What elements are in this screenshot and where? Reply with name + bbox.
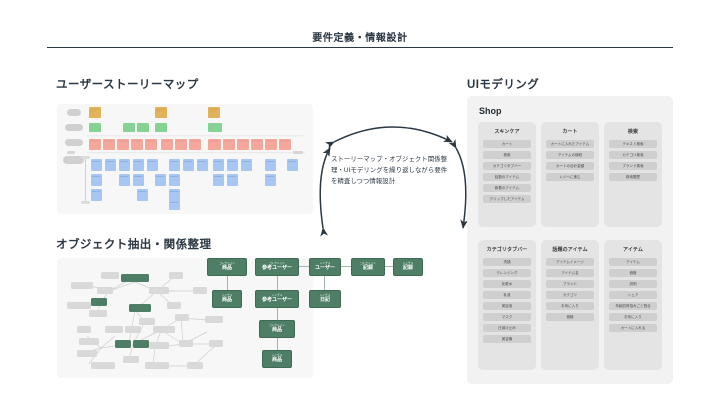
object-card-kind: コレクション (269, 263, 285, 266)
ui-card-item[interactable]: カテゴリタブバー (483, 162, 531, 170)
ui-modeling-panel[interactable]: Shop スキンケア カート 検索 カテゴリタブバー 話題のアイテム 新着のアイ… (467, 96, 673, 384)
object-card-kind: コレクション (219, 263, 235, 266)
ui-card-item[interactable]: ブランド検索 (609, 162, 657, 170)
object-card-name: 記録 (363, 266, 373, 271)
ui-card-item[interactable]: 洗顔 (483, 258, 531, 266)
object-card-name: 商品 (222, 298, 232, 303)
ui-card-search[interactable]: 検索 テキスト検索 カテゴリ検索 ブランド検索 検索履歴 (604, 122, 662, 227)
ui-card-item[interactable]: クリップしたアイテム (483, 195, 531, 203)
object-card-kind: シングル (403, 263, 414, 266)
ui-card-item[interactable]: シェア (609, 291, 657, 299)
ui-card-item[interactable]: 乳液 (483, 291, 531, 299)
story-map-canvas (57, 104, 313, 214)
ui-card-item[interactable]: 価格 (546, 313, 594, 321)
ui-card-item[interactable]: カートの合計金額 (546, 162, 594, 170)
ui-card-item[interactable]: 美容機 (483, 335, 531, 343)
slide-root: 要件定義・情報設計 ユーザーストーリーマップ (0, 0, 720, 405)
ui-card-item[interactable]: 化粧水 (483, 280, 531, 288)
ui-card-title: 検索 (609, 128, 657, 135)
object-card[interactable]: コレクション 記録 (351, 258, 385, 276)
ui-card-item[interactable]: アイテム (609, 258, 657, 266)
ui-card-item[interactable]: 説明 (609, 280, 657, 288)
ui-card-item[interactable]: マスク (483, 313, 531, 321)
page-title: 要件定義・情報設計 (0, 29, 720, 44)
object-card-kind: コレクション (360, 263, 376, 266)
object-link (227, 276, 228, 290)
ui-card-item[interactable]: アイテム アイテム 価格 説明 シェア 年齢肌育悩みごと割合 お気に入り カート… (604, 240, 662, 370)
object-card[interactable]: シングル ユーザー (309, 258, 341, 276)
object-card-name: 商品 (272, 328, 282, 333)
section-heading-story-map: ユーザーストーリーマップ (56, 76, 199, 92)
ui-card-item[interactable]: カテゴリ (546, 291, 594, 299)
object-link (277, 276, 278, 290)
object-link (341, 266, 351, 267)
ui-card-item[interactable]: 検索履歴 (609, 173, 657, 181)
ui-card-item[interactable]: お気に入り (609, 313, 657, 321)
ui-card-item[interactable]: 検索 (483, 151, 531, 159)
object-card-kind: コレクション (269, 325, 285, 328)
ui-card-trending-items[interactable]: 話題のアイテム アイテムイメージ アイテム名 ブランド カテゴリ お気に入り 価… (541, 240, 599, 370)
object-card-kind: シングル (272, 295, 283, 298)
object-link (324, 276, 325, 290)
ui-app-title: Shop (479, 106, 502, 116)
ui-card-category-tabbar[interactable]: カテゴリタブバー 洗顔 クレンジング 化粧水 乳液 美容液 マスク 日焼け止め … (478, 240, 536, 370)
cycle-arrows (313, 118, 473, 258)
ui-card-item[interactable]: 美容液 (483, 302, 531, 310)
ui-card-item[interactable]: 年齢肌育悩みごと割合 (609, 302, 657, 310)
ui-card-item[interactable]: アイテムイメージ (546, 258, 594, 266)
arrow-left (320, 148, 330, 228)
ui-card-item[interactable]: カートに入れる (609, 324, 657, 332)
object-card[interactable]: シングル 商品 (212, 290, 242, 308)
object-card[interactable]: コレクション 商品 (259, 320, 295, 338)
object-card-name: 商品 (222, 266, 232, 271)
object-card[interactable]: コレクション 商品 (207, 258, 247, 276)
object-card-kind: シングル (320, 263, 331, 266)
ui-card-title: スキンケア (483, 128, 531, 135)
object-card[interactable]: シングル 日記 (309, 290, 341, 308)
object-link (277, 338, 278, 350)
ui-card-item[interactable]: カテゴリ検索 (609, 151, 657, 159)
section-heading-object-model: オブジェクト抽出・関係整理 (56, 236, 211, 252)
object-card-kind: シングル (222, 295, 233, 298)
arrow-right (456, 148, 466, 228)
ui-card-title: カート (546, 128, 594, 135)
object-card-kind: シングル (272, 355, 283, 358)
object-link (299, 266, 309, 267)
object-card-name: 商品 (272, 358, 282, 363)
object-card-name: 記録 (403, 266, 413, 271)
ui-card-title: 話題のアイテム (546, 246, 594, 253)
ui-card-item[interactable]: レジへに進む (546, 173, 594, 181)
ui-card-item[interactable]: ブランド (546, 280, 594, 288)
ui-card-item[interactable]: 日焼け止め (483, 324, 531, 332)
ui-card-item[interactable]: 新着のアイテム (483, 184, 531, 192)
object-card[interactable]: コレクション 参考ユーザー (255, 258, 299, 276)
ui-card-item[interactable]: カート (483, 140, 531, 148)
object-card[interactable]: シングル 商品 (262, 350, 292, 368)
section-heading-ui-modeling: UIモデリング (467, 76, 539, 92)
story-map-panel[interactable] (57, 104, 313, 214)
ui-card-item[interactable]: クレンジング (483, 269, 531, 277)
ui-card-item[interactable]: アイテム名 (546, 269, 594, 277)
arrow-top (334, 127, 452, 142)
object-card-name: 日記 (320, 298, 330, 303)
ui-card-cart[interactable]: カート カートに入れたアイテム アイテムの値段 カートの合計金額 レジへに進む (541, 122, 599, 227)
object-card-kind: シングル (320, 295, 331, 298)
ui-card-item[interactable]: カートに入れたアイテム (546, 140, 594, 148)
cycle-caption: ストーリーマップ・オブジェクト関係整理・UIモデリングを繰り返しながら要件を精査… (331, 154, 449, 188)
ui-card-skincare[interactable]: スキンケア カート 検索 カテゴリタブバー 話題のアイテム 新着のアイテム クリ… (478, 122, 536, 227)
object-card-name: ユーザー (315, 266, 335, 271)
ui-card-item[interactable]: お気に入り (546, 302, 594, 310)
ui-card-title: カテゴリタブバー (483, 246, 531, 253)
ui-card-item[interactable]: テキスト検索 (609, 140, 657, 148)
object-card[interactable]: シングル 記録 (393, 258, 423, 276)
ui-card-title: アイテム (609, 246, 657, 253)
object-card[interactable]: シングル 参考ユーザー (255, 290, 299, 308)
object-card-name: 参考ユーザー (262, 298, 292, 303)
object-link (385, 266, 393, 267)
object-link (277, 308, 278, 320)
ui-card-item[interactable]: 価格 (609, 269, 657, 277)
ui-card-item[interactable]: アイテムの値段 (546, 151, 594, 159)
ui-card-item[interactable]: 話題のアイテム (483, 173, 531, 181)
title-divider (47, 47, 673, 48)
object-card-name: 参考ユーザー (262, 266, 292, 271)
